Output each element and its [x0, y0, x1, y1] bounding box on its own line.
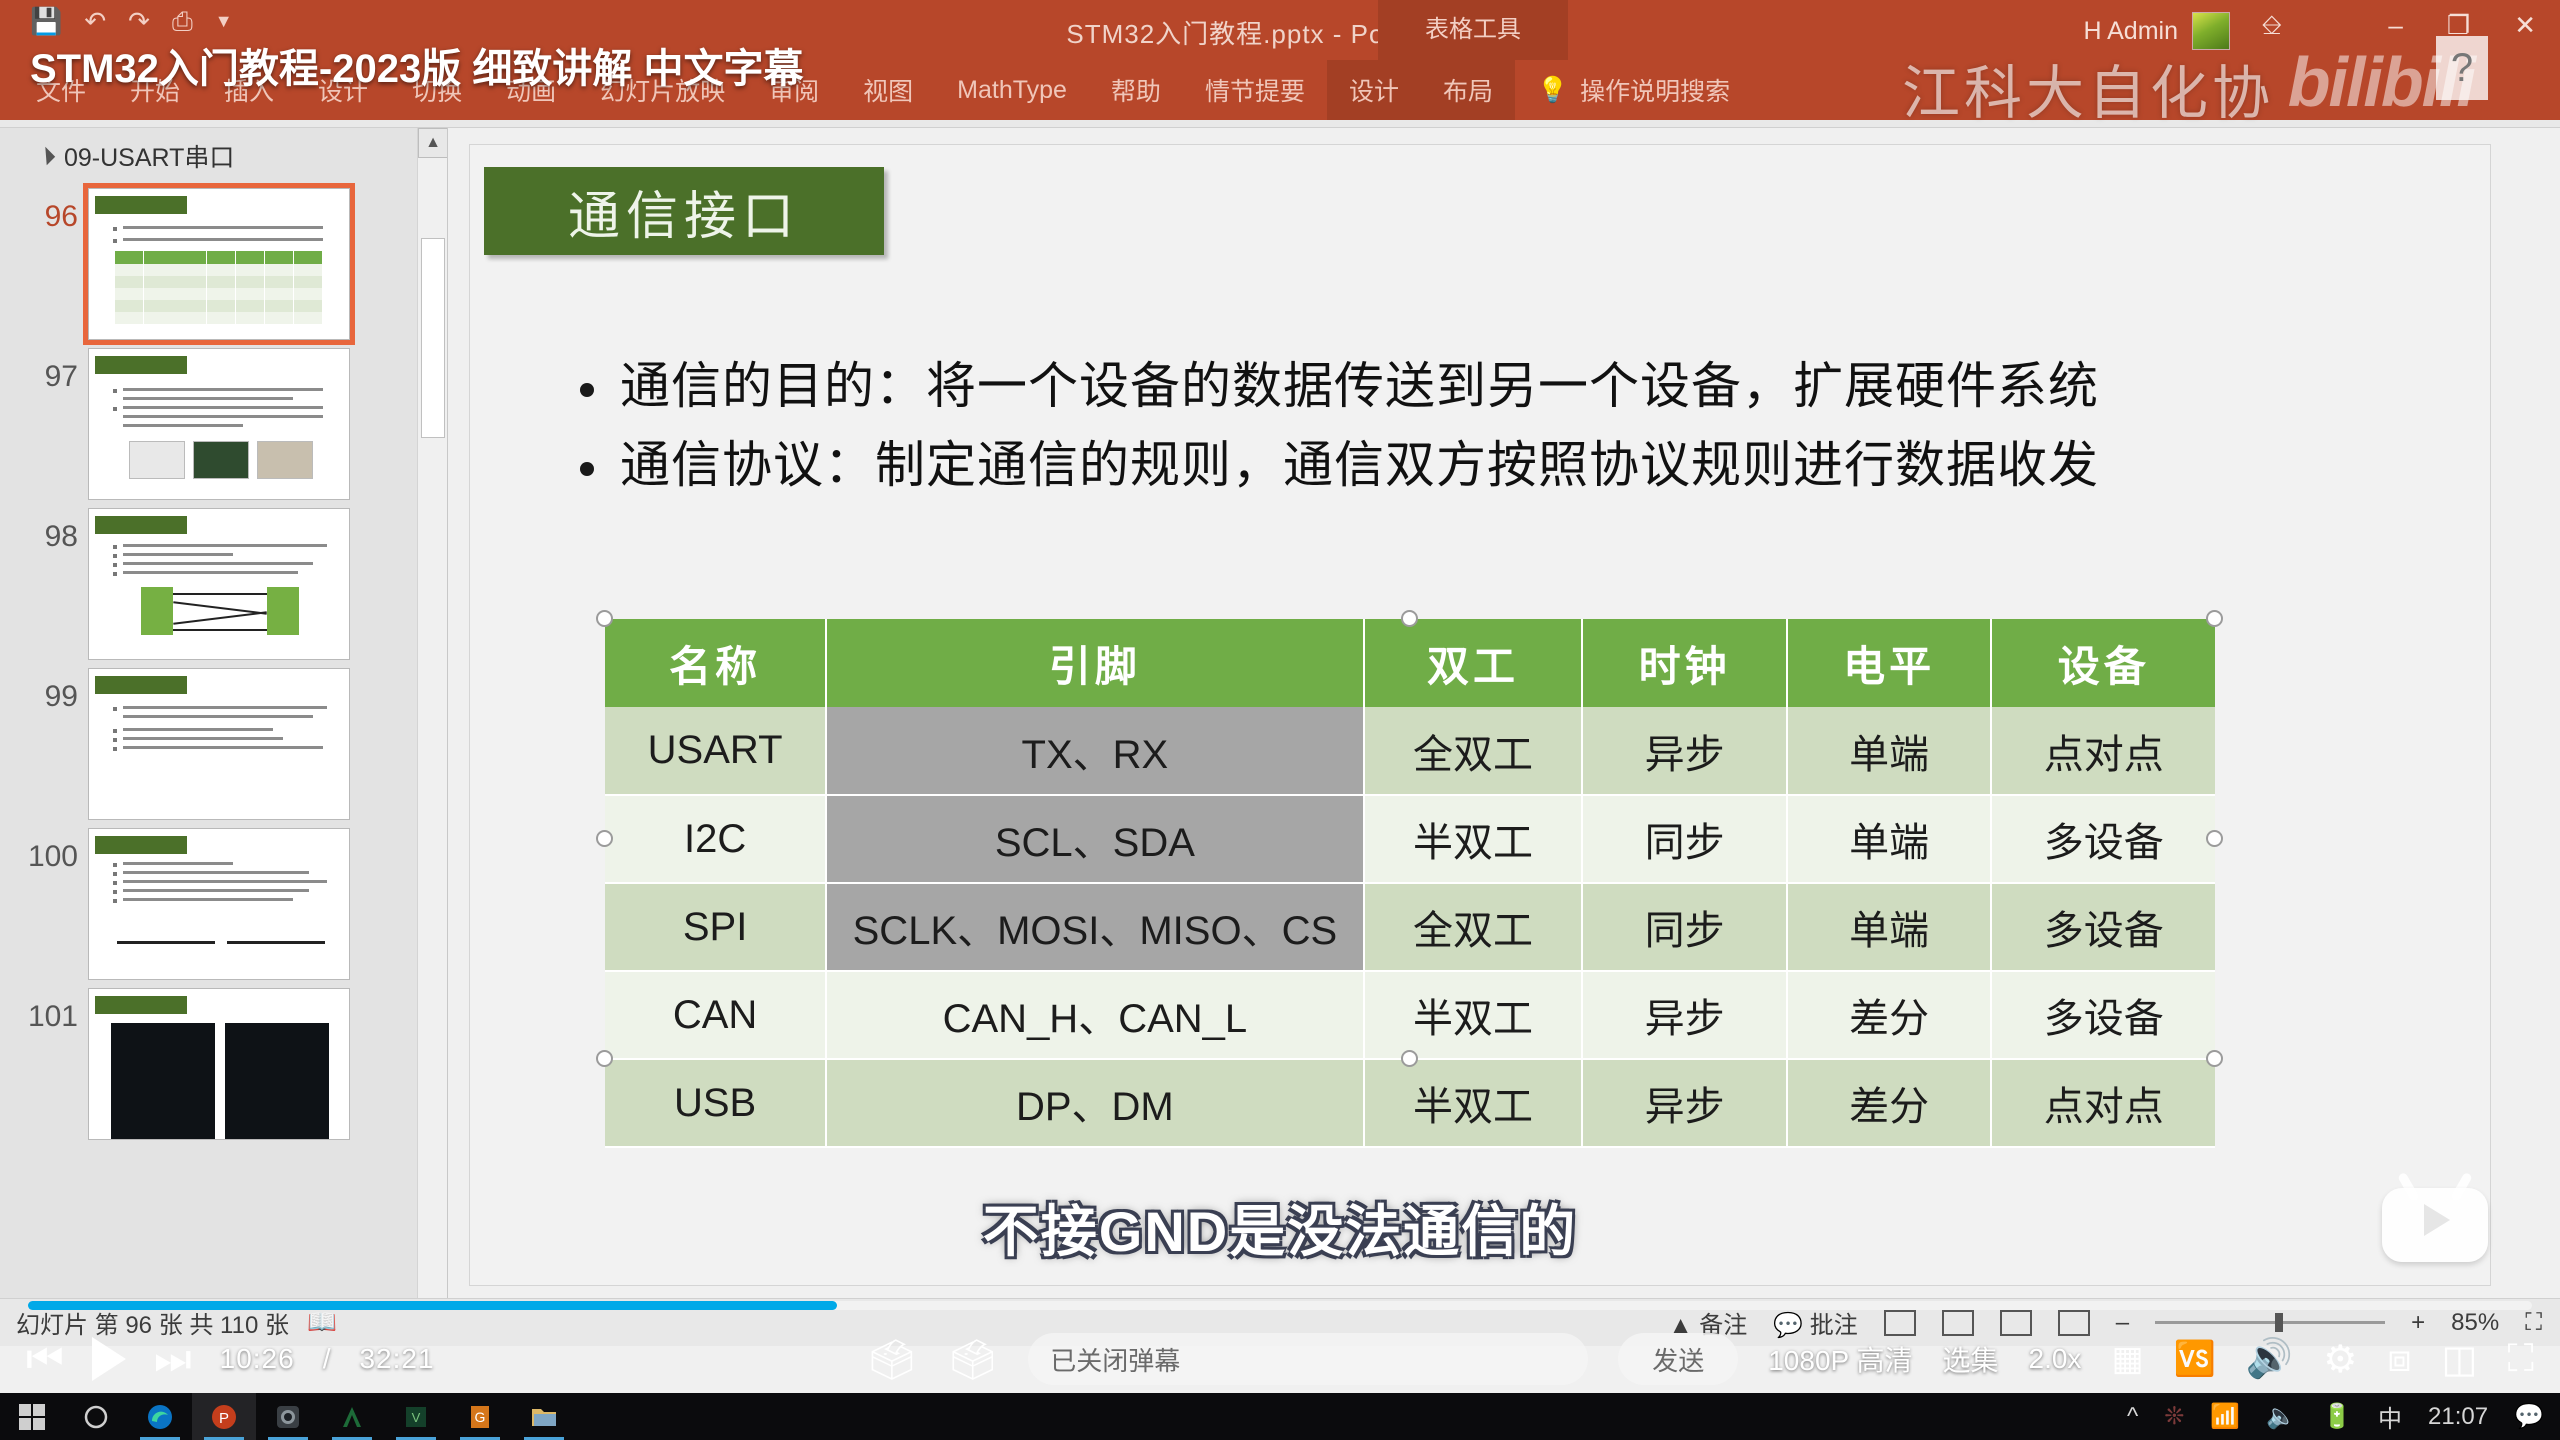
danmaku-input[interactable]: 已关闭弹幕: [1028, 1333, 1588, 1385]
bullet-item: 通信的目的：将一个设备的数据传送到另一个设备，扩展硬件系统: [580, 355, 2460, 418]
cell-selected[interactable]: TX、RX: [826, 707, 1363, 795]
section-name: 09-USART串口: [64, 138, 234, 174]
grid-layout-icon[interactable]: ▦: [2111, 1339, 2143, 1379]
list-item[interactable]: 101: [0, 980, 447, 1140]
danmaku-off-icon[interactable]: 🗳: [867, 1336, 918, 1383]
cell[interactable]: DP、DM: [826, 1059, 1363, 1147]
prev-episode-icon[interactable]: ⏮: [26, 1335, 64, 1384]
list-item[interactable]: 100: [0, 820, 447, 980]
bullet-text: 通信协议：制定通信的规则，通信双方按照协议规则进行数据收发: [620, 434, 2099, 497]
next-episode-icon[interactable]: ⏭: [154, 1335, 192, 1384]
list-item[interactable]: 99: [0, 660, 447, 820]
slide-thumbnail-97[interactable]: [88, 348, 350, 500]
cell[interactable]: SPI: [605, 883, 826, 971]
progress-fill: [28, 1301, 837, 1310]
cell-selected[interactable]: SCL、SDA: [826, 795, 1363, 883]
video-title-overlay: STM32入门教程-2023版 细致讲解 中文字幕: [30, 36, 803, 94]
time-separator: /: [323, 1343, 332, 1375]
table-row: SPI SCLK、MOSI、MISO、CS 全双工 同步 单端 多设备: [605, 883, 2215, 971]
slide-number: 98: [20, 508, 78, 554]
bullet-dot-icon: [580, 462, 594, 476]
section-header[interactable]: 09-USART串口: [0, 128, 447, 180]
playback-rate-button[interactable]: 2.0x: [2029, 1343, 2082, 1375]
cell[interactable]: CAN: [605, 971, 826, 1059]
cell[interactable]: 单端: [1787, 883, 1992, 971]
zoom-slider[interactable]: [2155, 1321, 2385, 1324]
cell[interactable]: 同步: [1582, 883, 1787, 971]
cell[interactable]: 多设备: [1991, 795, 2215, 883]
thumb-title-bar: [95, 516, 187, 534]
cell[interactable]: 全双工: [1364, 707, 1583, 795]
tell-me-label: 操作说明搜索: [1580, 72, 1730, 108]
thumb-title-bar: [95, 676, 187, 694]
video-subtitle: 不接GND是没法通信的: [0, 1187, 2560, 1268]
system-tray[interactable]: ^ ❊ 📶 🔈 🔋 中 21:07 💬: [2127, 1399, 2544, 1434]
thumb-title-bar: [95, 996, 187, 1014]
cell[interactable]: 异步: [1582, 971, 1787, 1059]
cell[interactable]: CAN_H、CAN_L: [826, 971, 1363, 1059]
tab-storyboard[interactable]: 情节提要: [1183, 72, 1327, 108]
notification-icon[interactable]: 💬: [2514, 1402, 2544, 1431]
bullet-dot-icon: [580, 383, 594, 397]
resize-handle-middle-left[interactable]: [596, 830, 613, 847]
cell[interactable]: 差分: [1787, 1059, 1992, 1147]
cell[interactable]: 差分: [1787, 971, 1992, 1059]
send-danmaku-button[interactable]: 发送: [1618, 1333, 1738, 1385]
cell[interactable]: 同步: [1582, 795, 1787, 883]
table-row: I2C SCL、SDA 半双工 同步 单端 多设备: [605, 795, 2215, 883]
svg-text:G: G: [475, 1409, 486, 1425]
cell[interactable]: 异步: [1582, 1059, 1787, 1147]
total-time: 32:21: [359, 1343, 434, 1375]
pip-icon[interactable]: ⧈: [2387, 1338, 2411, 1381]
subtitle-off-icon[interactable]: 🆚: [2174, 1339, 2216, 1379]
column-header-pins[interactable]: 引脚: [826, 619, 1363, 707]
windows-taskbar[interactable]: P V G ^ ❊ 📶 🔈 🔋 中 2: [0, 1393, 2560, 1440]
resize-handle-middle-right[interactable]: [2206, 830, 2223, 847]
comparison-table[interactable]: 名称 引脚 双工 时钟 电平 设备 USART TX、RX 全双工: [605, 619, 2215, 1148]
cell[interactable]: 半双工: [1364, 795, 1583, 883]
cortana-icon[interactable]: [64, 1393, 128, 1440]
cell[interactable]: USB: [605, 1059, 826, 1147]
bluetooth-icon[interactable]: 📶: [2210, 1402, 2240, 1431]
settings-gear-icon[interactable]: ⚙: [2323, 1337, 2357, 1382]
cell[interactable]: 全双工: [1364, 883, 1583, 971]
thumb-title-bar: [95, 196, 187, 214]
slide-thumbnail-96[interactable]: [88, 188, 350, 340]
play-pause-icon[interactable]: [92, 1337, 126, 1381]
ribbon-body: [0, 120, 2560, 128]
ime-icon[interactable]: 中: [2378, 1399, 2402, 1434]
table-row: USB DP、DM 半双工 异步 差分 点对点: [605, 1059, 2215, 1147]
minimize-button[interactable]: –: [2388, 10, 2402, 41]
tab-table-design[interactable]: 设计: [1327, 72, 1421, 108]
scroll-up-arrow-icon[interactable]: ▲: [418, 128, 448, 158]
ribbon-display-options-icon[interactable]: ⎒: [2262, 10, 2283, 42]
list-item[interactable]: 97: [0, 340, 447, 500]
player-left-controls[interactable]: ⏮ ⏭ 10:26 / 32:21: [26, 1335, 435, 1384]
altium-icon[interactable]: [320, 1393, 384, 1440]
thumb-mini-table: [115, 251, 323, 324]
scrollbar-thumb[interactable]: [421, 238, 445, 438]
volume-icon[interactable]: 🔊: [2246, 1337, 2293, 1381]
slide-title-placeholder[interactable]: 通信接口: [484, 167, 884, 255]
resize-handle-top-center[interactable]: [1401, 610, 1418, 627]
resize-handle-top-left[interactable]: [596, 610, 613, 627]
cell-selected[interactable]: SCLK、MOSI、MISO、CS: [826, 883, 1363, 971]
slide-number: 96: [20, 188, 78, 234]
vs-icon[interactable]: V: [384, 1393, 448, 1440]
table-tools-tabs[interactable]: 设计 布局: [1327, 60, 1515, 120]
slide-thumbnail-100[interactable]: [88, 828, 350, 980]
show-hidden-icons-icon[interactable]: ^: [2127, 1403, 2138, 1431]
fullscreen-icon[interactable]: ⛶: [2507, 1338, 2534, 1381]
explorer-icon[interactable]: [512, 1393, 576, 1440]
list-item[interactable]: 96: [0, 180, 447, 340]
powerpoint-window: 💾 ↶ ↷ ⎙ ▼ STM32入门教程.pptx - PowerPoint 表格…: [0, 0, 2560, 1393]
quality-selector[interactable]: 1080P 高清: [1768, 1339, 1912, 1379]
close-button[interactable]: ✕: [2514, 10, 2536, 41]
slide-number: 100: [20, 828, 78, 874]
thumb-title-bar: [95, 836, 187, 854]
table-header-row: 名称 引脚 双工 时钟 电平 设备: [605, 619, 2215, 707]
volume-icon[interactable]: 🔈: [2266, 1402, 2296, 1431]
slide-thumbnail-101[interactable]: [88, 988, 350, 1140]
screen: 💾 ↶ ↷ ⎙ ▼ STM32入门教程.pptx - PowerPoint 表格…: [0, 0, 2560, 1440]
bullet-item: 通信协议：制定通信的规则，通信双方按照协议规则进行数据收发: [580, 434, 2460, 497]
slide-number: 101: [20, 988, 78, 1034]
avatar[interactable]: [2192, 12, 2230, 50]
table-row: CAN CAN_H、CAN_L 半双工 异步 差分 多设备: [605, 971, 2215, 1059]
cell[interactable]: 单端: [1787, 707, 1992, 795]
tell-me-box[interactable]: 💡 操作说明搜索: [1537, 72, 1730, 108]
nvidia-icon[interactable]: ❊: [2164, 1402, 2184, 1431]
powerpoint-icon[interactable]: P: [192, 1393, 256, 1440]
slide-content-placeholder[interactable]: 通信的目的：将一个设备的数据传送到另一个设备，扩展硬件系统 通信协议：制定通信的…: [580, 355, 2460, 512]
resize-handle-bottom-right[interactable]: [2206, 1050, 2223, 1067]
edge-icon[interactable]: [128, 1393, 192, 1440]
thumbnail-scrollbar[interactable]: ▲: [417, 128, 447, 1298]
column-header-level[interactable]: 电平: [1787, 619, 1992, 707]
current-time: 10:26: [220, 1343, 295, 1375]
help-question-icon[interactable]: ?: [2436, 36, 2488, 100]
keil-icon[interactable]: G: [448, 1393, 512, 1440]
cell[interactable]: 半双工: [1364, 1059, 1583, 1147]
slide-canvas[interactable]: 通信接口 通信的目的：将一个设备的数据传送到另一个设备，扩展硬件系统 通信协议：…: [470, 145, 2490, 1285]
cell[interactable]: 异步: [1582, 707, 1787, 795]
column-header-name[interactable]: 名称: [605, 619, 826, 707]
account-name: H Admin: [2084, 17, 2178, 46]
slide-number: 99: [20, 668, 78, 714]
slide-number: 97: [20, 348, 78, 394]
column-header-duplex[interactable]: 双工: [1364, 619, 1583, 707]
cell[interactable]: USART: [605, 707, 826, 795]
tab-table-layout[interactable]: 布局: [1421, 72, 1515, 108]
column-header-clock[interactable]: 时钟: [1582, 619, 1787, 707]
resize-handle-bottom-center[interactable]: [1401, 1050, 1418, 1067]
contextual-tool-label: 表格工具: [1378, 0, 1568, 60]
collapse-triangle-icon[interactable]: [37, 147, 55, 165]
column-header-device[interactable]: 设备: [1991, 619, 2215, 707]
svg-text:V: V: [412, 1410, 421, 1425]
camera-icon[interactable]: [256, 1393, 320, 1440]
cell[interactable]: 点对点: [1991, 1059, 2215, 1147]
tab-help[interactable]: 帮助: [1089, 72, 1183, 108]
slide-thumbnail-pane[interactable]: 09-USART串口 96: [0, 128, 448, 1298]
list-item[interactable]: 98: [0, 500, 447, 660]
lightbulb-icon: 💡: [1537, 76, 1568, 105]
player-right-controls[interactable]: 🗳 🗳 已关闭弹幕 发送 1080P 高清 选集 2.0x ▦ 🆚 🔊 ⚙ ⧈ …: [867, 1333, 2534, 1385]
cell[interactable]: 多设备: [1991, 971, 2215, 1059]
cell[interactable]: 单端: [1787, 795, 1992, 883]
thumb-title-bar: [95, 356, 187, 374]
tab-view[interactable]: 视图: [841, 72, 935, 108]
resize-handle-top-right[interactable]: [2206, 610, 2223, 627]
slide-thumbnail-99[interactable]: [88, 668, 350, 820]
cell[interactable]: I2C: [605, 795, 826, 883]
start-icon[interactable]: [0, 1393, 64, 1440]
danmaku-settings-icon[interactable]: 🗳: [947, 1336, 998, 1383]
bullet-text: 通信的目的：将一个设备的数据传送到另一个设备，扩展硬件系统: [620, 355, 2099, 418]
progress-bar[interactable]: [28, 1301, 2532, 1310]
resize-handle-bottom-left[interactable]: [596, 1050, 613, 1067]
widescreen-icon[interactable]: ◫: [2441, 1337, 2477, 1382]
table-row: USART TX、RX 全双工 异步 单端 点对点: [605, 707, 2215, 795]
page-title: 通信接口: [568, 174, 800, 249]
episode-list-button[interactable]: 选集: [1942, 1339, 1998, 1379]
slide-thumbnail-98[interactable]: [88, 508, 350, 660]
battery-icon[interactable]: 🔋: [2322, 1402, 2352, 1431]
cell[interactable]: 半双工: [1364, 971, 1583, 1059]
cell[interactable]: 点对点: [1991, 707, 2215, 795]
cell[interactable]: 多设备: [1991, 883, 2215, 971]
clock[interactable]: 21:07: [2428, 1403, 2488, 1431]
account-area[interactable]: H Admin: [2084, 12, 2230, 50]
svg-text:P: P: [219, 1410, 229, 1427]
tab-mathtype[interactable]: MathType: [935, 76, 1089, 105]
